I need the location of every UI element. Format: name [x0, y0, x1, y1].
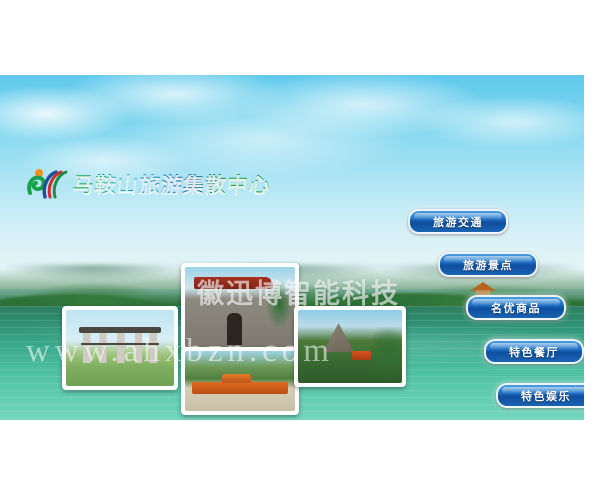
temple-complex-image [185, 351, 295, 411]
nav-button-label: 旅游交通 [433, 214, 483, 230]
photo-card-mountain-peak[interactable] [294, 306, 406, 387]
mountain-peak-pavilion-image [298, 310, 402, 383]
photo-inner [66, 310, 174, 386]
nav-button-transport[interactable]: 旅游交通 [408, 209, 508, 234]
tree-foliage [367, 326, 402, 379]
nav-button-label: 特色餐厅 [509, 344, 559, 360]
brand-title: 马鞍山旅游集散中心 [71, 169, 272, 199]
nav-button-label: 旅游景点 [463, 257, 513, 273]
nav-button-label: 名优商品 [491, 300, 541, 316]
photo-card-memorial-archway[interactable] [62, 306, 178, 390]
nav-button-restaurant[interactable]: 特色餐厅 [484, 339, 584, 364]
swirl-ribbon-logo-icon [26, 167, 68, 201]
memorial-archway-image [66, 310, 174, 386]
photo-inner [185, 267, 295, 347]
stone-gate-tower-image [185, 267, 295, 347]
photo-card-temple-complex[interactable] [181, 347, 299, 415]
nav-button-entertainment[interactable]: 特色娱乐 [496, 383, 584, 408]
photo-inner [185, 351, 295, 411]
nav-button-attractions[interactable]: 旅游景点 [438, 252, 538, 277]
photo-card-stone-gate-tower[interactable] [181, 263, 299, 351]
photo-inner [298, 310, 402, 383]
tree-foliage [266, 281, 292, 327]
kiosk-screen: 马鞍山旅游集散中心 [0, 75, 584, 420]
kiosk-screenshot: 马鞍山旅游集散中心 [0, 0, 600, 488]
nav-button-products[interactable]: 名优商品 [466, 295, 566, 320]
nav-button-label: 特色娱乐 [521, 388, 571, 404]
brand-logo: 马鞍山旅游集散中心 [26, 167, 271, 201]
